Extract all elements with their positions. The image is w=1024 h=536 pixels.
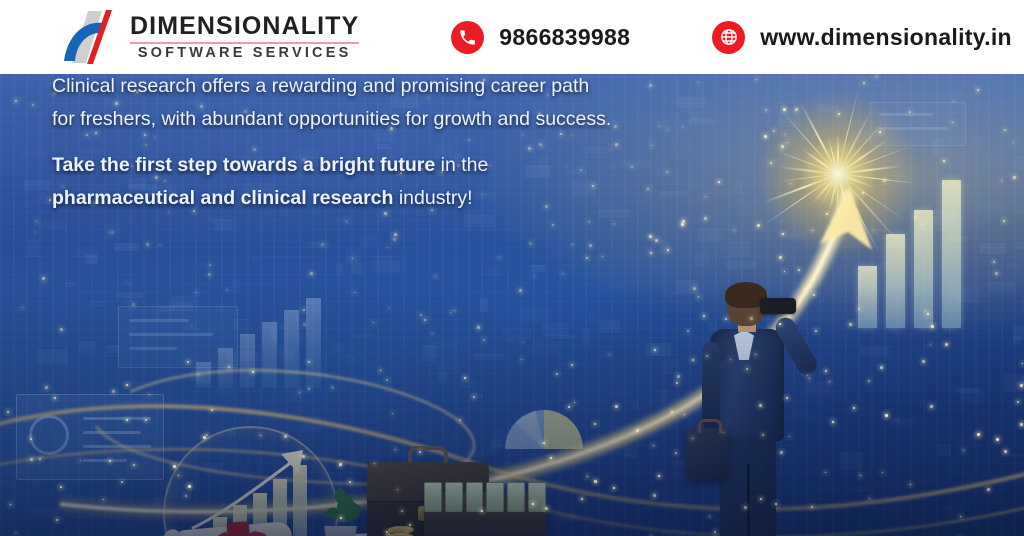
phone-contact[interactable]: 9866839988 xyxy=(451,21,630,54)
website-url[interactable]: www.dimensionality.in xyxy=(760,24,1012,51)
p2-line2-bold: pharmaceutical and clinical research xyxy=(52,187,393,209)
phone-icon xyxy=(451,21,484,54)
logo-text-block: DIMENSIONALITY SOFTWARE SERVICES xyxy=(130,14,359,60)
p2-line2-light: industry! xyxy=(393,187,472,209)
site-header: DIMENSIONALITY SOFTWARE SERVICES 9866839… xyxy=(0,0,1024,74)
paragraph-two: Take the first step towards a bright fut… xyxy=(52,149,488,215)
dimensionality-logo-mark-icon xyxy=(62,9,124,65)
globe-icon xyxy=(712,21,745,54)
company-logo[interactable]: DIMENSIONALITY SOFTWARE SERVICES xyxy=(62,9,359,65)
logo-divider xyxy=(130,42,359,44)
paragraph-one-line-two: for freshers, with abundant opportunitie… xyxy=(52,103,611,136)
paragraph-one-line-one: Clinical research offers a rewarding and… xyxy=(52,70,611,103)
banner-artwork xyxy=(0,74,1024,536)
paragraph-two-line-one: Take the first step towards a bright fut… xyxy=(52,149,488,182)
p2-line1-light: in the xyxy=(435,154,488,176)
city-shadow-gradient xyxy=(0,286,1024,536)
paragraph-one: Clinical research offers a rewarding and… xyxy=(52,70,611,136)
p2-line1-bold: Take the first step towards a bright fut… xyxy=(52,154,435,176)
phone-number[interactable]: 9866839988 xyxy=(499,24,630,51)
logo-title: DIMENSIONALITY xyxy=(130,14,359,39)
logo-subtitle: SOFTWARE SERVICES xyxy=(130,46,359,61)
promo-banner: DIMENSIONALITY SOFTWARE SERVICES 9866839… xyxy=(0,0,1024,536)
website-contact[interactable]: www.dimensionality.in xyxy=(712,21,1012,54)
paragraph-two-line-two: pharmaceutical and clinical research ind… xyxy=(52,182,488,215)
